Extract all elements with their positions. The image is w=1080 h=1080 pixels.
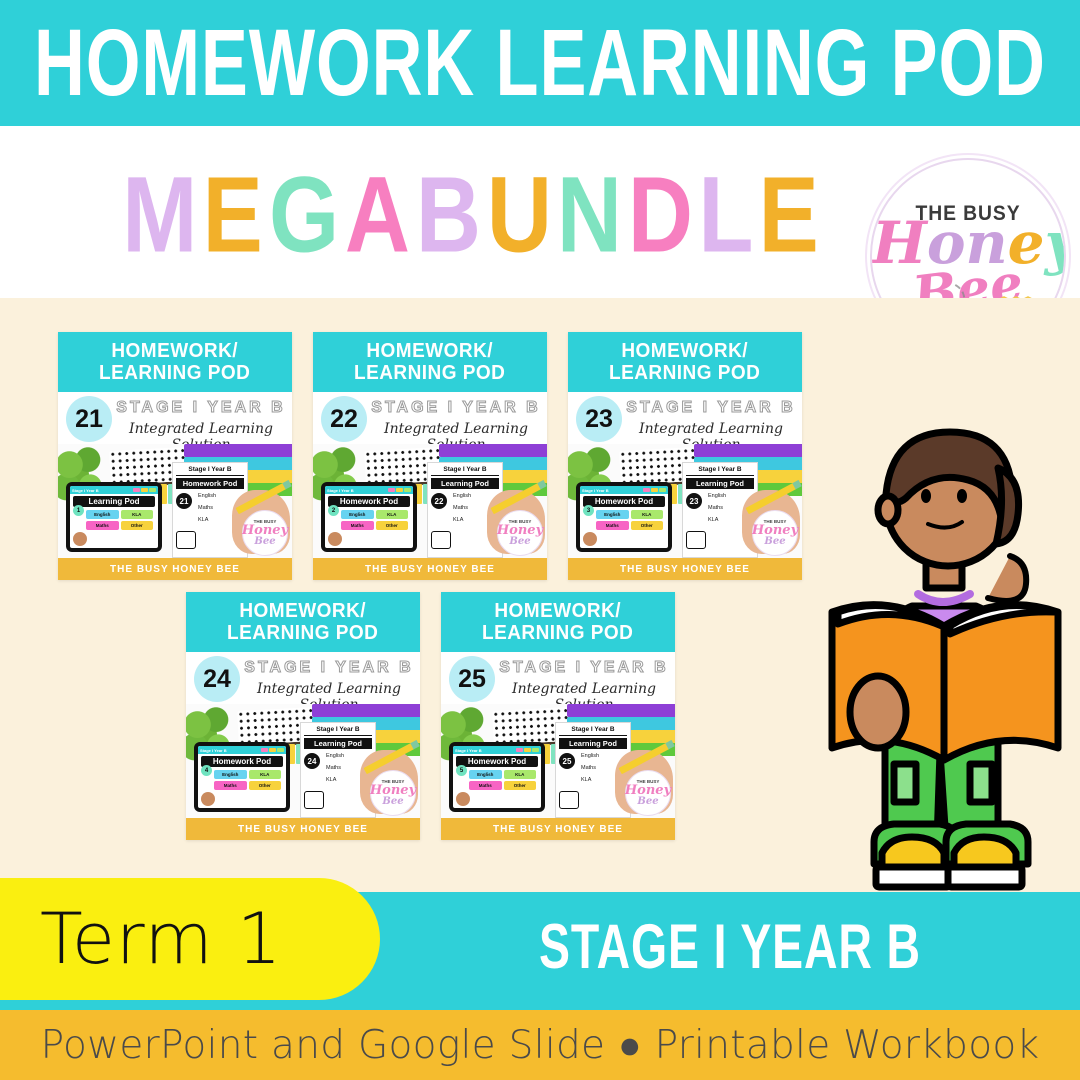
header-banner: HOMEWORK LEARNING POD bbox=[0, 0, 1080, 126]
card-title-line1: HOMEWORK/ bbox=[622, 340, 749, 362]
tablet-number-badge: 3 bbox=[583, 505, 594, 516]
worksheet-band-label: Learning Pod bbox=[686, 478, 754, 489]
tablet-mockup: Stage I Year B Homework Pod 5 EnglishKLA… bbox=[449, 742, 545, 812]
tablet-band-label: Learning Pod bbox=[73, 496, 155, 507]
card-stage-label: STAGE I YEAR B bbox=[371, 399, 541, 417]
card-number-badge: 24 bbox=[194, 656, 240, 702]
card-subheader: 22 STAGE I YEAR B Integrated Learning So… bbox=[313, 392, 547, 444]
card-title-line1: HOMEWORK/ bbox=[495, 600, 622, 622]
tablet-topbar-chips bbox=[388, 488, 411, 492]
card-title-line2: LEARNING POD bbox=[354, 362, 505, 384]
mega-letter-b-5: B bbox=[416, 160, 481, 268]
tablet-button-maths[interactable]: Maths bbox=[86, 521, 119, 530]
tablet-button-maths[interactable]: Maths bbox=[469, 781, 502, 790]
card-photo: Stage I Year B Learning Pod 1 EnglishKLA… bbox=[58, 444, 292, 558]
card-photo: Stage I Year B Homework Pod 5 EnglishKLA… bbox=[441, 704, 675, 818]
tablet-topbar-chips bbox=[133, 488, 156, 492]
poster-root: HOMEWORK LEARNING POD MEGABUNDLE THE BUS… bbox=[0, 0, 1080, 1080]
card-mini-logo: THE BUSY Honey Bee bbox=[497, 510, 543, 556]
tablet-topbar: Stage I Year B bbox=[70, 486, 158, 494]
tablet-number-badge: 2 bbox=[328, 505, 339, 516]
tablet-button-kla[interactable]: KLA bbox=[121, 510, 154, 519]
card-mini-logo: THE BUSY Honey Bee bbox=[625, 770, 671, 816]
card-subheader: 24 STAGE I YEAR B Integrated Learning So… bbox=[186, 652, 420, 704]
tablet-mockup: Stage I Year B Homework Pod 2 EnglishKLA… bbox=[321, 482, 417, 552]
worksheet-header: Stage I Year B bbox=[559, 726, 627, 736]
tablet-button-other[interactable]: Other bbox=[376, 521, 409, 530]
term-label: Term 1 bbox=[40, 904, 282, 974]
tablet-avatar bbox=[328, 532, 342, 546]
tablet-topbar: Stage I Year B bbox=[453, 746, 541, 754]
card-title-line2: LEARNING POD bbox=[482, 622, 633, 644]
tablet-button-kla[interactable]: KLA bbox=[504, 770, 537, 779]
tablet-topbar-label: Stage I Year B bbox=[327, 488, 354, 493]
worksheet-band-label: Homework Pod bbox=[176, 478, 244, 489]
card-header: HOMEWORK/ LEARNING POD bbox=[313, 332, 547, 392]
mega-letter-e-10: E bbox=[758, 160, 818, 268]
worksheet-band-label: Learning Pod bbox=[304, 738, 372, 749]
tablet-button-kla[interactable]: KLA bbox=[249, 770, 282, 779]
worksheet-doodle-icon bbox=[686, 531, 706, 549]
tablet-number-badge: 4 bbox=[201, 765, 212, 776]
mini-logo-bot: Bee bbox=[764, 537, 785, 547]
tablet-button-english[interactable]: English bbox=[596, 510, 629, 519]
photo-notebook-0 bbox=[312, 704, 420, 717]
tablet-screen: Stage I Year B Homework Pod 3 EnglishKLA… bbox=[580, 486, 668, 548]
card-photo: Stage I Year B Homework Pod 4 EnglishKLA… bbox=[186, 704, 420, 818]
card-number-badge: 25 bbox=[449, 656, 495, 702]
card-header: HOMEWORK/ LEARNING POD bbox=[186, 592, 420, 652]
worksheet-number-badge: 25 bbox=[559, 753, 575, 769]
card-stage-label: STAGE I YEAR B bbox=[626, 399, 796, 417]
tablet-topbar-label: Stage I Year B bbox=[72, 488, 99, 493]
tablet-topbar: Stage I Year B bbox=[198, 746, 286, 754]
tablet-topbar-chips bbox=[643, 488, 666, 492]
card-photo: Stage I Year B Homework Pod 3 EnglishKLA… bbox=[568, 444, 802, 558]
footer-formats-bar: PowerPoint and Google Slide ● Printable … bbox=[0, 1010, 1080, 1080]
card-header: HOMEWORK/ LEARNING POD bbox=[441, 592, 675, 652]
tablet-band-label: Homework Pod bbox=[328, 496, 410, 507]
card-stage-label: STAGE I YEAR B bbox=[116, 399, 286, 417]
photo-notebook-0 bbox=[184, 444, 292, 457]
worksheet-doodle-icon bbox=[431, 531, 451, 549]
worksheet-band-label: Learning Pod bbox=[431, 478, 499, 489]
card-footer: THE BUSY HONEY BEE bbox=[58, 558, 292, 580]
photo-notebook-0 bbox=[439, 444, 547, 457]
tablet-screen: Stage I Year B Learning Pod 1 EnglishKLA… bbox=[70, 486, 158, 548]
product-card-23[interactable]: HOMEWORK/ LEARNING POD 23 STAGE I YEAR B… bbox=[568, 332, 802, 580]
tablet-screen: Stage I Year B Homework Pod 4 EnglishKLA… bbox=[198, 746, 286, 808]
tablet-button-english[interactable]: English bbox=[341, 510, 374, 519]
card-footer: THE BUSY HONEY BEE bbox=[313, 558, 547, 580]
tablet-topbar: Stage I Year B bbox=[580, 486, 668, 494]
page-title: HOMEWORK LEARNING POD bbox=[34, 16, 1046, 110]
footer-stage-label: STAGE I YEAR B bbox=[429, 911, 1031, 983]
card-title-line1: HOMEWORK/ bbox=[112, 340, 239, 362]
mega-letter-u-6: U bbox=[486, 160, 551, 268]
card-mini-logo: THE BUSY Honey Bee bbox=[752, 510, 798, 556]
mega-bundle-title: MEGABUNDLE bbox=[150, 154, 790, 274]
mini-logo-bot: Bee bbox=[382, 797, 403, 807]
tablet-screen: Stage I Year B Homework Pod 2 EnglishKLA… bbox=[325, 486, 413, 548]
card-number-badge: 22 bbox=[321, 396, 367, 442]
tablet-topbar-label: Stage I Year B bbox=[200, 748, 227, 753]
card-header: HOMEWORK/ LEARNING POD bbox=[58, 332, 292, 392]
tablet-button-english[interactable]: English bbox=[214, 770, 247, 779]
boy-reading-clipart bbox=[822, 412, 1074, 904]
tablet-button-maths[interactable]: Maths bbox=[341, 521, 374, 530]
worksheet-doodle-icon bbox=[176, 531, 196, 549]
photo-notebook-0 bbox=[567, 704, 675, 717]
mega-letter-d-8: D bbox=[628, 160, 693, 268]
card-header: HOMEWORK/ LEARNING POD bbox=[568, 332, 802, 392]
mini-logo-bot: Bee bbox=[254, 537, 275, 547]
card-mini-logo: THE BUSY Honey Bee bbox=[242, 510, 288, 556]
tablet-mockup: Stage I Year B Homework Pod 3 EnglishKLA… bbox=[576, 482, 672, 552]
tablet-button-maths[interactable]: Maths bbox=[596, 521, 629, 530]
mini-logo-bot: Bee bbox=[637, 797, 658, 807]
card-title-line1: HOMEWORK/ bbox=[240, 600, 367, 622]
tablet-button-other[interactable]: Other bbox=[631, 521, 664, 530]
term-badge: Term 1 bbox=[0, 878, 380, 1000]
worksheet-band-label: Learning Pod bbox=[559, 738, 627, 749]
worksheet-number-badge: 24 bbox=[304, 753, 320, 769]
card-mini-logo: THE BUSY Honey Bee bbox=[370, 770, 416, 816]
worksheet-header: Stage I Year B bbox=[176, 466, 244, 476]
tablet-avatar bbox=[201, 792, 215, 806]
tablet-number-badge: 1 bbox=[73, 505, 84, 516]
card-footer: THE BUSY HONEY BEE bbox=[568, 558, 802, 580]
card-subheader: 21 STAGE I YEAR B Integrated Learning So… bbox=[58, 392, 292, 444]
tablet-topbar-chips bbox=[261, 748, 284, 752]
mega-letter-g-2: G bbox=[269, 160, 339, 268]
card-number-badge: 21 bbox=[66, 396, 112, 442]
worksheet-doodle-icon bbox=[304, 791, 324, 809]
product-card-25[interactable]: HOMEWORK/ LEARNING POD 25 STAGE I YEAR B… bbox=[441, 592, 675, 840]
worksheet-number-badge: 23 bbox=[686, 493, 702, 509]
tablet-button-other[interactable]: Other bbox=[121, 521, 154, 530]
card-title-line2: LEARNING POD bbox=[609, 362, 760, 384]
card-stage-label: STAGE I YEAR B bbox=[244, 659, 414, 677]
product-card-22[interactable]: HOMEWORK/ LEARNING POD 22 STAGE I YEAR B… bbox=[313, 332, 547, 580]
tablet-band-label: Homework Pod bbox=[583, 496, 665, 507]
worksheet-number-badge: 21 bbox=[176, 493, 192, 509]
tablet-avatar bbox=[583, 532, 597, 546]
card-footer: THE BUSY HONEY BEE bbox=[186, 818, 420, 840]
worksheet-header: Stage I Year B bbox=[686, 466, 754, 476]
worksheet-number-badge: 22 bbox=[431, 493, 447, 509]
mini-logo-bot: Bee bbox=[509, 537, 530, 547]
card-title-line1: HOMEWORK/ bbox=[367, 340, 494, 362]
worksheet-doodle-icon bbox=[559, 791, 579, 809]
mega-letter-a-3: A bbox=[345, 160, 410, 268]
tablet-button-other[interactable]: Other bbox=[249, 781, 282, 790]
worksheet-header: Stage I Year B bbox=[304, 726, 372, 736]
tablet-mockup: Stage I Year B Homework Pod 4 EnglishKLA… bbox=[194, 742, 290, 812]
tablet-button-kla[interactable]: KLA bbox=[376, 510, 409, 519]
mega-letter-n-7: N bbox=[557, 160, 622, 268]
tablet-button-english[interactable]: English bbox=[86, 510, 119, 519]
tablet-avatar bbox=[73, 532, 87, 546]
card-number-badge: 23 bbox=[576, 396, 622, 442]
tablet-topbar: Stage I Year B bbox=[325, 486, 413, 494]
tablet-button-maths[interactable]: Maths bbox=[214, 781, 247, 790]
card-footer: THE BUSY HONEY BEE bbox=[441, 818, 675, 840]
tablet-mockup: Stage I Year B Learning Pod 1 EnglishKLA… bbox=[66, 482, 162, 552]
product-card-24[interactable]: HOMEWORK/ LEARNING POD 24 STAGE I YEAR B… bbox=[186, 592, 420, 840]
tablet-topbar-label: Stage I Year B bbox=[582, 488, 609, 493]
tablet-topbar-chips bbox=[516, 748, 539, 752]
card-title-line2: LEARNING POD bbox=[227, 622, 378, 644]
tablet-topbar-label: Stage I Year B bbox=[455, 748, 482, 753]
card-photo: Stage I Year B Homework Pod 2 EnglishKLA… bbox=[313, 444, 547, 558]
mega-letter-l-9: L bbox=[698, 160, 753, 268]
card-subheader: 25 STAGE I YEAR B Integrated Learning So… bbox=[441, 652, 675, 704]
tablet-number-badge: 5 bbox=[456, 765, 467, 776]
tablet-avatar bbox=[456, 792, 470, 806]
worksheet-header: Stage I Year B bbox=[431, 466, 499, 476]
tablet-band-label: Homework Pod bbox=[201, 756, 283, 767]
formats-label: PowerPoint and Google Slide ● Printable … bbox=[41, 1023, 1040, 1068]
tablet-button-other[interactable]: Other bbox=[504, 781, 537, 790]
product-card-21[interactable]: HOMEWORK/ LEARNING POD 21 STAGE I YEAR B… bbox=[58, 332, 292, 580]
photo-notebook-0 bbox=[694, 444, 802, 457]
card-title-line2: LEARNING POD bbox=[99, 362, 250, 384]
logo-honey-letter-0: H bbox=[872, 214, 927, 272]
card-stage-label: STAGE I YEAR B bbox=[499, 659, 669, 677]
mega-letter-m-0: M bbox=[122, 160, 197, 268]
tablet-band-label: Homework Pod bbox=[456, 756, 538, 767]
tablet-screen: Stage I Year B Homework Pod 5 EnglishKLA… bbox=[453, 746, 541, 808]
card-subheader: 23 STAGE I YEAR B Integrated Learning So… bbox=[568, 392, 802, 444]
tablet-button-english[interactable]: English bbox=[469, 770, 502, 779]
mega-letter-e-1: E bbox=[203, 160, 263, 268]
tablet-button-kla[interactable]: KLA bbox=[631, 510, 664, 519]
